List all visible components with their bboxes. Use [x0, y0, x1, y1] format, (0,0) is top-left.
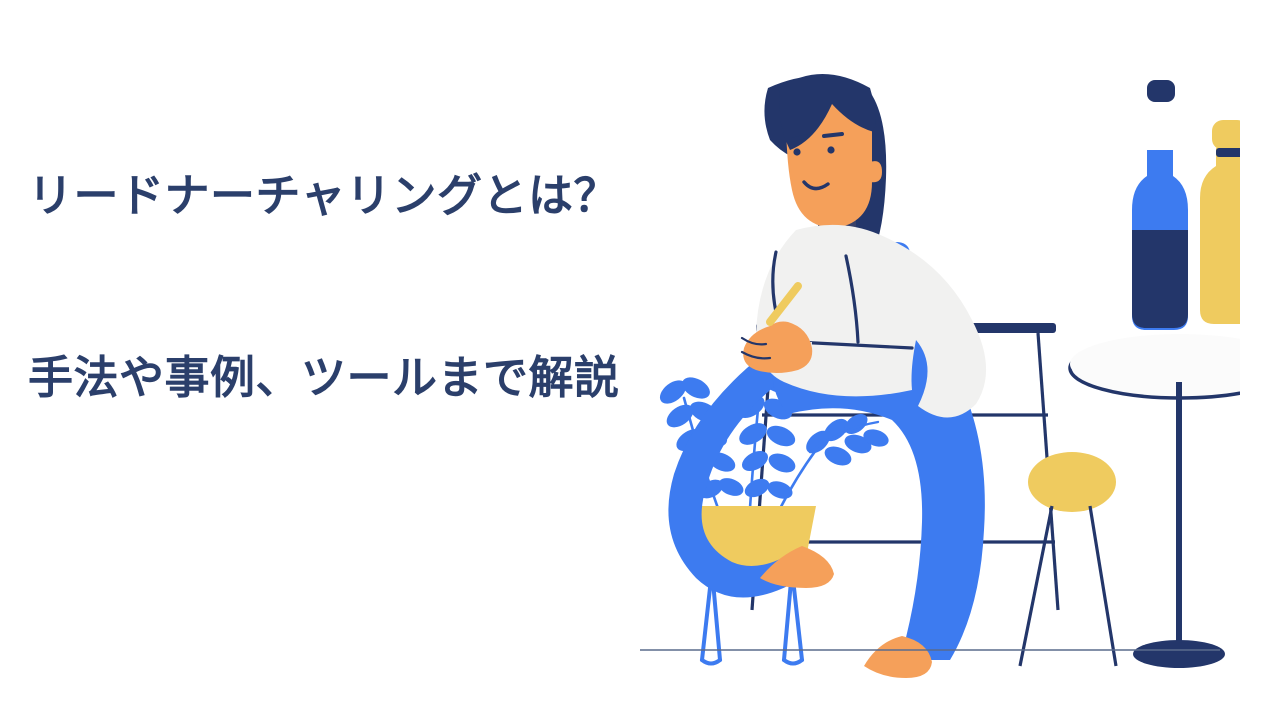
ear: [870, 161, 882, 182]
eye-left: [793, 148, 800, 155]
banner-root: リードナーチャリングとは？ 手法や事例、ツールまで解説: [0, 0, 1280, 720]
woman-character: [668, 74, 986, 678]
hero-illustration: [620, 70, 1240, 680]
water-bottle-blue: [1132, 80, 1188, 330]
bar-stool: [1020, 452, 1116, 666]
water-bottle-yellow: [1200, 120, 1240, 324]
eyebrow-right: [824, 134, 842, 136]
eye-right: [827, 146, 834, 153]
